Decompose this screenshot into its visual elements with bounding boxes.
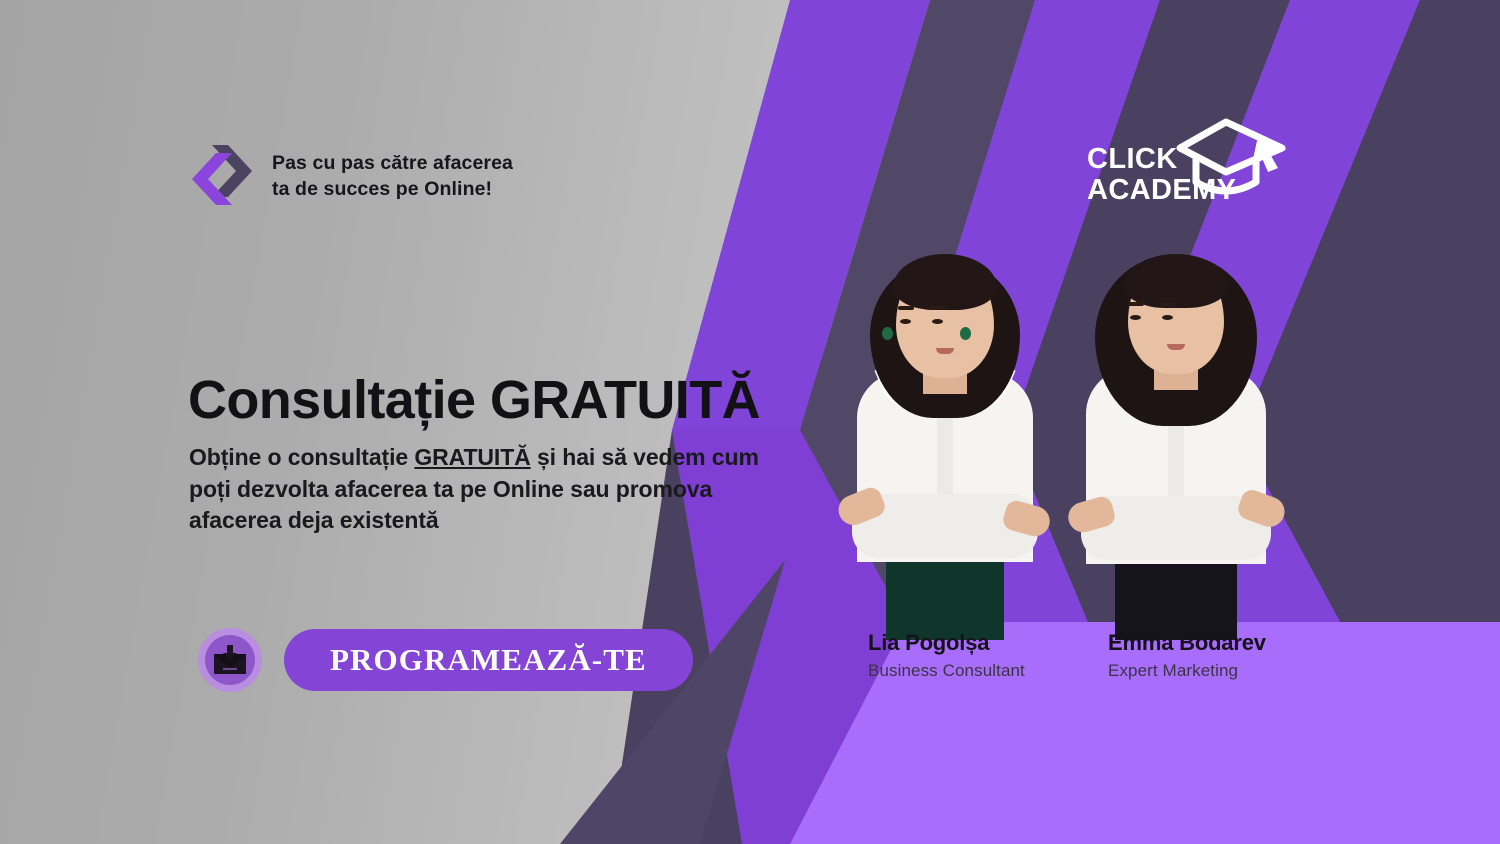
emma-eye-left — [1130, 315, 1141, 320]
tagline-text: Pas cu pas către afacerea ta de succes p… — [272, 151, 513, 202]
promo-banner: Pas cu pas către afacerea ta de succes p… — [0, 0, 1500, 844]
art-slate-bottom-wedge — [560, 560, 785, 844]
emma-trousers — [1115, 554, 1237, 640]
presenter-card: Lia Pogolșa Business Consultant — [868, 630, 1068, 681]
lia-skirt — [886, 552, 1004, 640]
page-title: Consultație GRATUITĂ — [188, 369, 760, 431]
schedule-button[interactable]: PROGRAMEAZĂ-TE — [284, 629, 693, 691]
presenter-role: Expert Marketing — [1108, 661, 1308, 681]
presenters-photo — [820, 240, 1300, 640]
presenter-figure-lia — [830, 245, 1060, 640]
lia-brow-right — [930, 306, 946, 310]
envelope-download-icon[interactable] — [198, 628, 262, 692]
lia-eye-right — [932, 319, 943, 324]
brand-tagline-row: Pas cu pas către afacerea ta de succes p… — [190, 143, 513, 210]
lia-earring-left — [882, 327, 893, 340]
subcopy-emphasis: GRATUITĂ — [414, 444, 530, 470]
subcopy-before: Obține o consultație — [189, 444, 414, 470]
presenter-name: Emma Bodarev — [1108, 630, 1308, 656]
academy-name: CLICK ACADEMY — [1087, 144, 1236, 207]
emma-brow-left — [1128, 302, 1144, 306]
double-chevron-logo-icon — [190, 143, 256, 210]
emma-brow-right — [1160, 302, 1176, 306]
presenter-name-band: Lia Pogolșa Business Consultant Emma Bod… — [868, 630, 1308, 681]
presenter-card: Emma Bodarev Expert Marketing — [1108, 630, 1308, 681]
subcopy-text: Obține o consultație GRATUITĂ și hai să … — [189, 442, 799, 537]
presenter-figure-emma — [1058, 240, 1293, 640]
presenter-role: Business Consultant — [868, 661, 1068, 681]
lia-brow-left — [898, 306, 914, 310]
lia-hair-front — [893, 254, 997, 310]
presenter-name: Lia Pogolșa — [868, 630, 1068, 656]
lia-earring-right — [960, 327, 971, 340]
emma-eye-right — [1162, 315, 1173, 320]
envelope-icon-inner-ring — [205, 635, 255, 685]
lia-eye-left — [900, 319, 911, 324]
cta-row: PROGRAMEAZĂ-TE — [198, 628, 693, 692]
